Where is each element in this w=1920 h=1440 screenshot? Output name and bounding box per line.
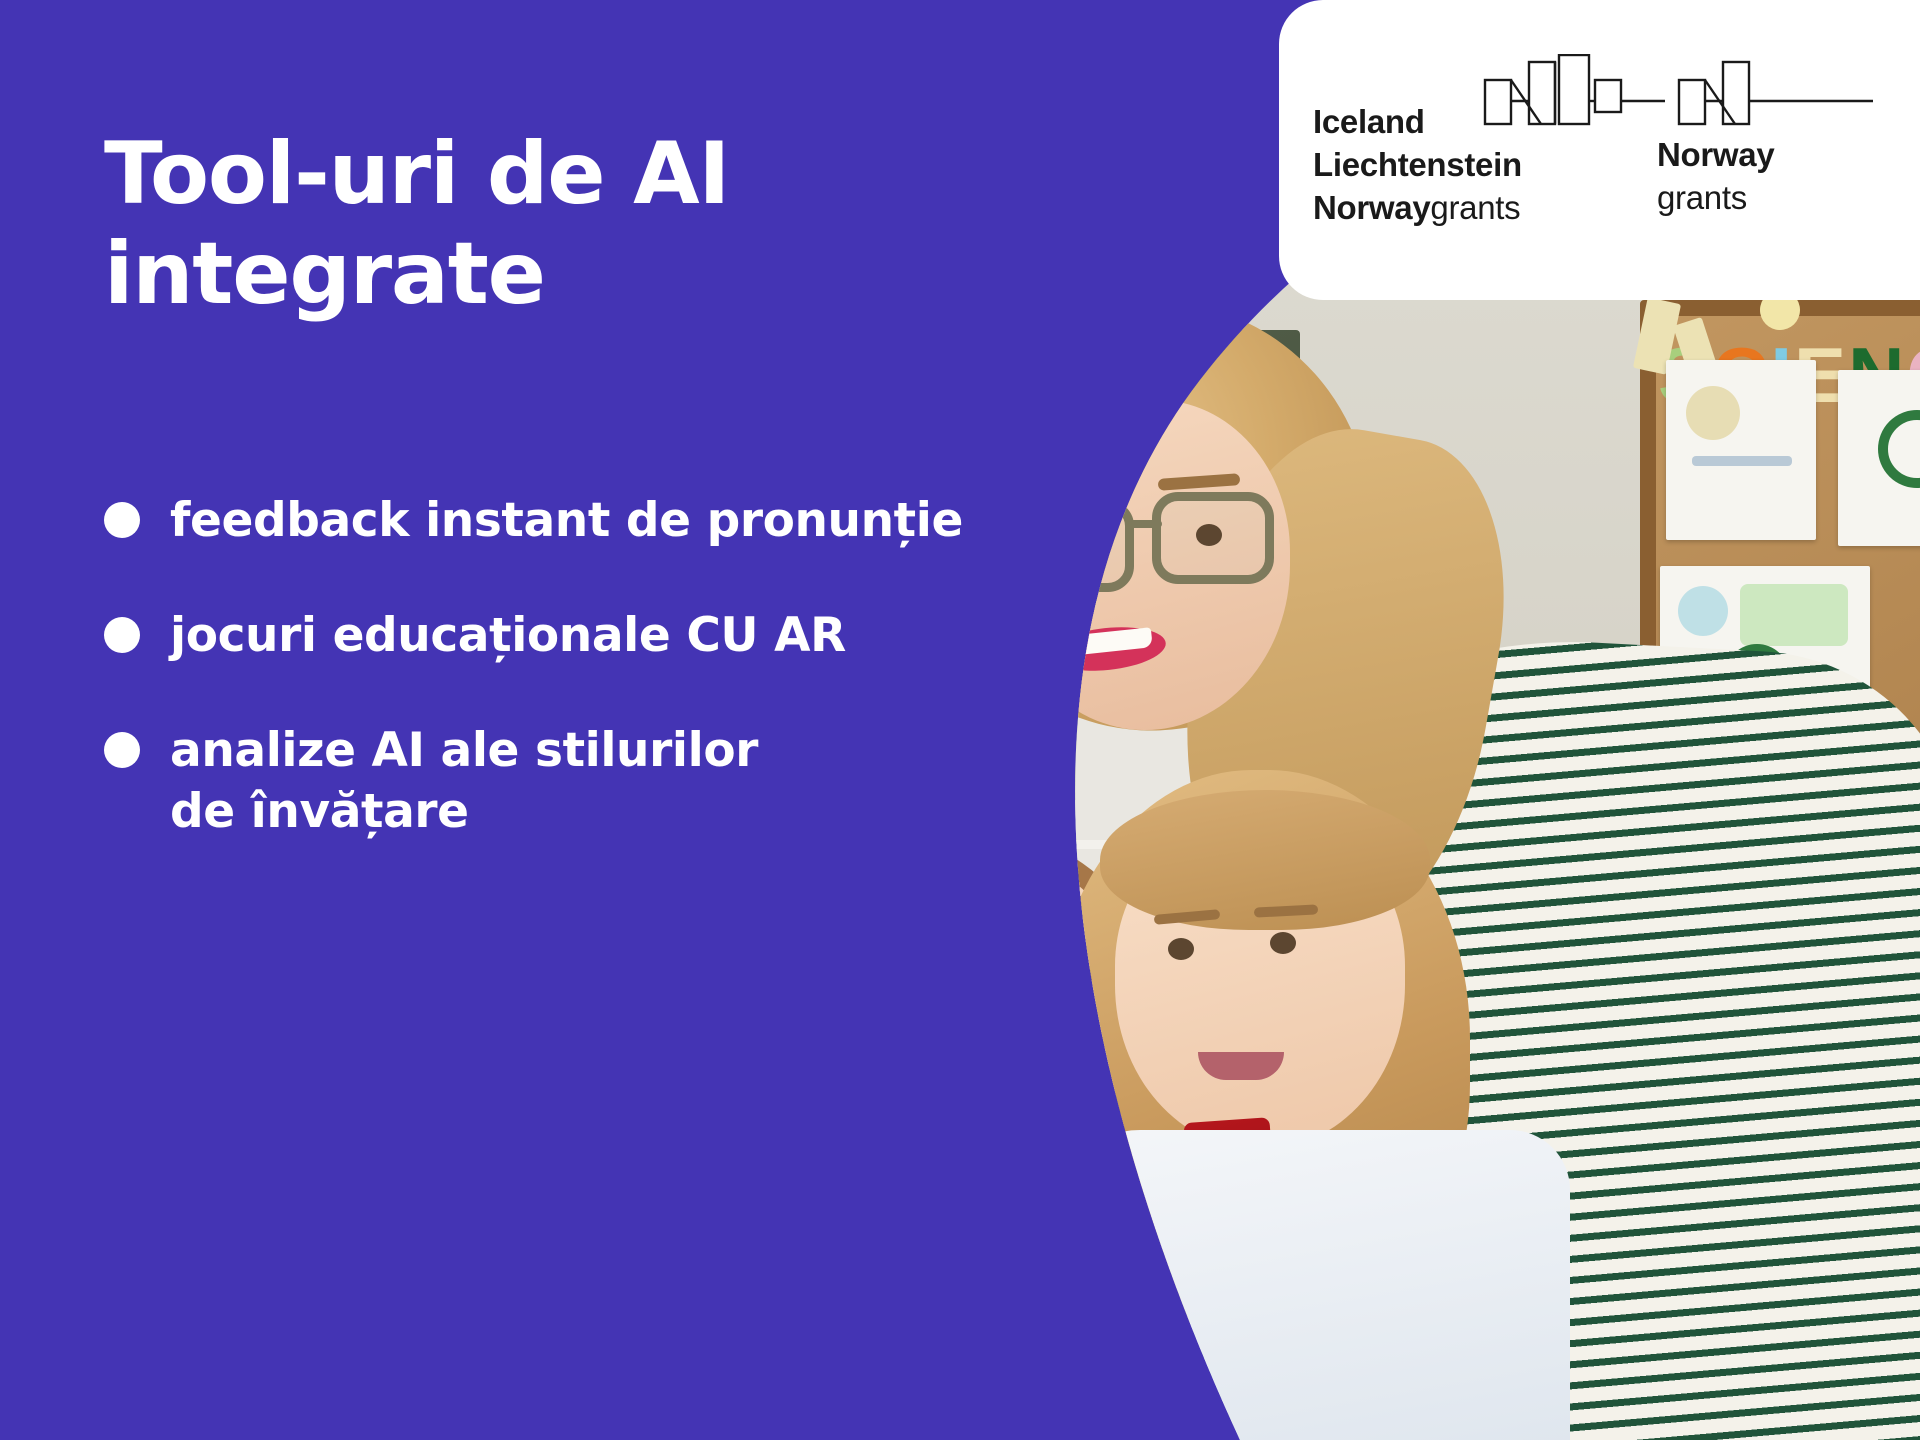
bullet-label: jocuri educaționale CU AR bbox=[170, 605, 846, 666]
logo-grants-light: grants bbox=[1430, 189, 1520, 226]
book bbox=[1000, 880, 1052, 1030]
teacher-glasses-bridge bbox=[1128, 520, 1162, 528]
bow-tie-wing-left bbox=[940, 1240, 943, 1336]
bow-tie-knot bbox=[940, 1254, 979, 1322]
child-a-glasses-left-lens bbox=[940, 900, 980, 986]
list-item: feedback instant de pronunție bbox=[104, 490, 964, 551]
child-b-eye bbox=[1168, 938, 1194, 960]
logo-line-norway-grants: Norwaygrants bbox=[1313, 187, 1522, 230]
book bbox=[1006, 668, 1016, 835]
bullet-label: analize AI ale stilurilor de învățare bbox=[170, 720, 758, 842]
teacher-eyebrow bbox=[1032, 482, 1119, 503]
logo-line-liechtenstein: Liechtenstein bbox=[1313, 144, 1522, 187]
feature-bullet-list: feedback instant de pronunție jocuri edu… bbox=[104, 490, 964, 842]
child-a-lens-reflection bbox=[992, 901, 1069, 957]
child-a-smile bbox=[940, 1085, 968, 1119]
slide-canvas: SCIENCE bbox=[0, 0, 1920, 1440]
page-title: Tool-uri de AI integrate bbox=[104, 125, 934, 325]
bullet-dot-icon bbox=[104, 502, 140, 538]
drawing-scribble bbox=[1686, 386, 1740, 440]
grants-logo: Iceland Liechtenstein Norwaygrants Norwa… bbox=[1313, 58, 1873, 228]
drawing-scribble bbox=[1678, 586, 1728, 636]
child-b-shirt bbox=[1050, 1130, 1570, 1440]
teacher-eye bbox=[1196, 524, 1222, 546]
child-a-bow-tie bbox=[940, 1240, 1075, 1336]
student-drawing bbox=[1666, 360, 1816, 540]
child-a-glasses-bridge bbox=[974, 924, 996, 932]
grants-logo-card: Iceland Liechtenstein Norwaygrants Norwa… bbox=[1279, 0, 1920, 300]
drawing-scribble bbox=[1878, 410, 1920, 488]
bow-tie-wing-right bbox=[967, 1240, 1075, 1336]
logo-line-iceland: Iceland bbox=[1313, 101, 1522, 144]
eea-norway-grants-mark-icon bbox=[1483, 54, 1875, 133]
list-item: jocuri educaționale CU AR bbox=[104, 605, 964, 666]
bullet-dot-icon bbox=[104, 617, 140, 653]
child-b-eye bbox=[1270, 932, 1296, 954]
drawing-scribble bbox=[1740, 584, 1848, 646]
list-item: analize AI ale stilurilor de învățare bbox=[104, 720, 964, 842]
drawing-scribble bbox=[1692, 456, 1792, 466]
headline-line-1: Tool-uri de AI bbox=[104, 125, 934, 225]
logo-line-grants: grants bbox=[1657, 177, 1774, 220]
teacher-glasses-left-lens bbox=[1012, 500, 1134, 592]
bullet-label: feedback instant de pronunție bbox=[170, 490, 963, 551]
headline-line-2: integrate bbox=[104, 225, 934, 325]
logo-line-norway: Norway bbox=[1657, 134, 1774, 177]
student-drawing bbox=[1838, 370, 1920, 546]
teacher-eye bbox=[1058, 532, 1084, 554]
logo-norway-bold: Norway bbox=[1313, 189, 1430, 226]
grants-logo-right-text: Norway grants bbox=[1657, 134, 1774, 220]
bullet-dot-icon bbox=[104, 732, 140, 768]
book bbox=[988, 660, 1002, 835]
grants-logo-left-text: Iceland Liechtenstein Norwaygrants bbox=[1313, 101, 1522, 230]
